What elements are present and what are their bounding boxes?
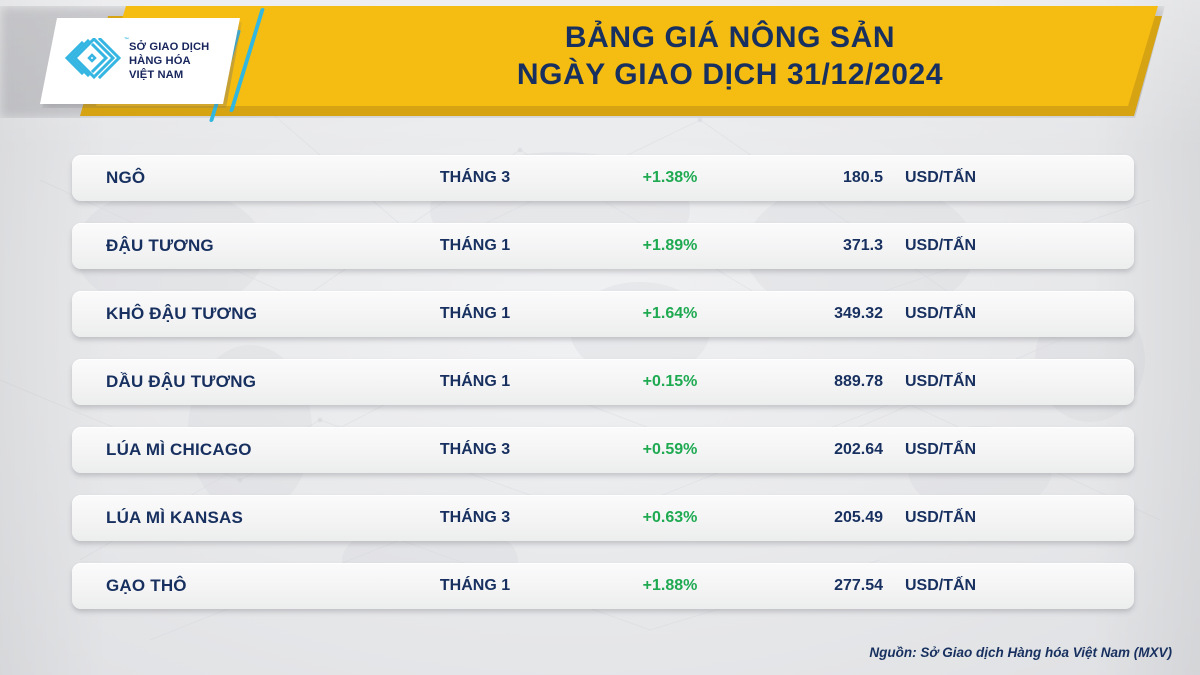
page-title: BẢNG GIÁ NÔNG SẢN NGÀY GIAO DỊCH 31/12/2… bbox=[330, 6, 1130, 106]
table-row: KHÔ ĐẬU TƯƠNG THÁNG 1 +1.64% 349.32 USD/… bbox=[72, 291, 1134, 337]
price-value: 205.49 bbox=[723, 509, 883, 527]
price-value: 889.78 bbox=[723, 373, 883, 391]
contract-month: THÁNG 3 bbox=[385, 441, 565, 459]
price-value: 180.5 bbox=[723, 169, 883, 187]
logo-line-2: HÀNG HÓA bbox=[129, 54, 209, 68]
table-row: DẦU ĐẬU TƯƠNG THÁNG 1 +0.15% 889.78 USD/… bbox=[72, 359, 1134, 405]
contract-month: THÁNG 3 bbox=[385, 509, 565, 527]
header-banner: BẢNG GIÁ NÔNG SẢN NGÀY GIAO DỊCH 31/12/2… bbox=[0, 0, 1200, 124]
price-value: 202.64 bbox=[723, 441, 883, 459]
page-title-line-2: NGÀY GIAO DỊCH 31/12/2024 bbox=[517, 57, 943, 92]
commodity-name: DẦU ĐẬU TƯƠNG bbox=[106, 372, 256, 392]
source-credit: Nguồn: Sở Giao dịch Hàng hóa Việt Nam (M… bbox=[869, 645, 1172, 660]
price-board-page: BẢNG GIÁ NÔNG SẢN NGÀY GIAO DỊCH 31/12/2… bbox=[0, 0, 1200, 675]
table-row: GẠO THÔ THÁNG 1 +1.88% 277.54 USD/TẤN bbox=[72, 563, 1134, 609]
price-value: 349.32 bbox=[723, 305, 883, 323]
table-row: NGÔ THÁNG 3 +1.38% 180.5 USD/TẤN bbox=[72, 155, 1134, 201]
commodity-name: LÚA MÌ CHICAGO bbox=[106, 440, 252, 460]
table-row: LÚA MÌ CHICAGO THÁNG 3 +0.59% 202.64 USD… bbox=[72, 427, 1134, 473]
price-unit: USD/TẤN bbox=[905, 577, 976, 595]
contract-month: THÁNG 1 bbox=[385, 237, 565, 255]
commodity-name: LÚA MÌ KANSAS bbox=[106, 508, 243, 528]
logo-card: ™ SỞ GIAO DỊCH HÀNG HÓA VIỆT NAM bbox=[40, 18, 240, 104]
commodity-name: ĐẬU TƯƠNG bbox=[106, 236, 214, 256]
commodity-name: GẠO THÔ bbox=[106, 576, 187, 596]
logo-line-1: SỞ GIAO DỊCH bbox=[129, 40, 209, 54]
contract-month: THÁNG 1 bbox=[385, 577, 565, 595]
price-unit: USD/TẤN bbox=[905, 237, 976, 255]
price-unit: USD/TẤN bbox=[905, 509, 976, 527]
commodity-name: NGÔ bbox=[106, 168, 145, 188]
price-table: NGÔ THÁNG 3 +1.38% 180.5 USD/TẤN ĐẬU TƯƠ… bbox=[72, 155, 1134, 609]
price-value: 371.3 bbox=[723, 237, 883, 255]
table-row: ĐẬU TƯƠNG THÁNG 1 +1.89% 371.3 USD/TẤN bbox=[72, 223, 1134, 269]
contract-month: THÁNG 1 bbox=[385, 305, 565, 323]
mxv-logo-icon bbox=[62, 38, 124, 84]
price-unit: USD/TẤN bbox=[905, 169, 976, 187]
contract-month: THÁNG 1 bbox=[385, 373, 565, 391]
trademark-icon: ™ bbox=[124, 37, 129, 43]
logo-wordmark: ™ SỞ GIAO DỊCH HÀNG HÓA VIỆT NAM bbox=[129, 40, 209, 83]
price-unit: USD/TẤN bbox=[905, 373, 976, 391]
price-value: 277.54 bbox=[723, 577, 883, 595]
contract-month: THÁNG 3 bbox=[385, 169, 565, 187]
table-row: LÚA MÌ KANSAS THÁNG 3 +0.63% 205.49 USD/… bbox=[72, 495, 1134, 541]
price-unit: USD/TẤN bbox=[905, 441, 976, 459]
price-unit: USD/TẤN bbox=[905, 305, 976, 323]
logo-line-3: VIỆT NAM bbox=[129, 68, 209, 82]
commodity-name: KHÔ ĐẬU TƯƠNG bbox=[106, 304, 257, 324]
page-title-line-1: BẢNG GIÁ NÔNG SẢN bbox=[565, 20, 895, 55]
